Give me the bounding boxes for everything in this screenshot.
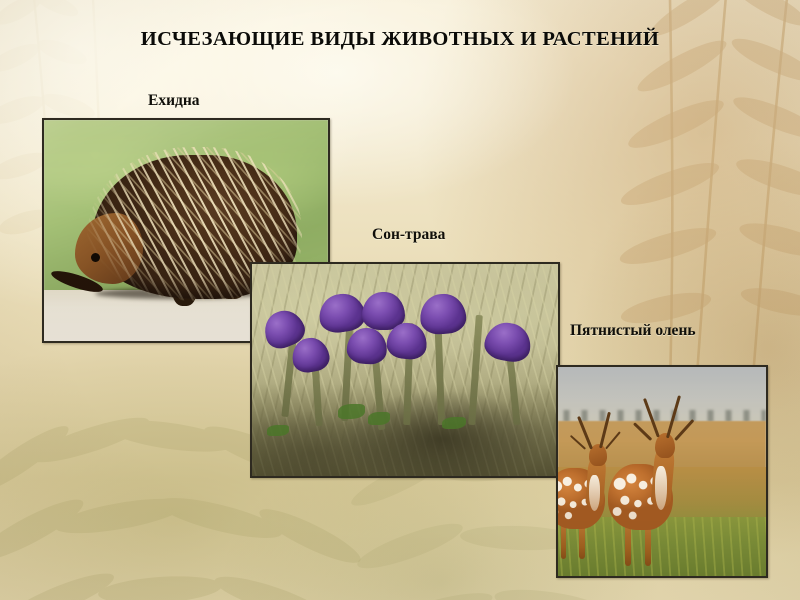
caption-pasqueflower: Сон-трава [372,226,445,244]
sika-deer-photo[interactable] [556,365,768,578]
pasqueflower-photo[interactable] [250,262,560,478]
caption-sika-deer: Пятнистый олень [570,322,696,340]
presentation-slide: ИСЧЕЗАЮЩИЕ ВИДЫ ЖИВОТНЫХ И РАСТЕНИЙ Ехид… [0,0,800,600]
slide-title: ИСЧЕЗАЮЩИЕ ВИДЫ ЖИВОТНЫХ И РАСТЕНИЙ [0,28,800,51]
pasqueflower-scene [252,264,558,476]
deer-right [608,442,695,563]
echidna-eye [91,253,100,262]
pasqueflower-leaf [368,412,389,425]
caption-echidna: Ехидна [148,92,200,110]
sika-deer-scene [558,367,766,576]
pasqueflower-leaf [338,404,366,419]
pasqueflower-leaf [267,425,288,436]
